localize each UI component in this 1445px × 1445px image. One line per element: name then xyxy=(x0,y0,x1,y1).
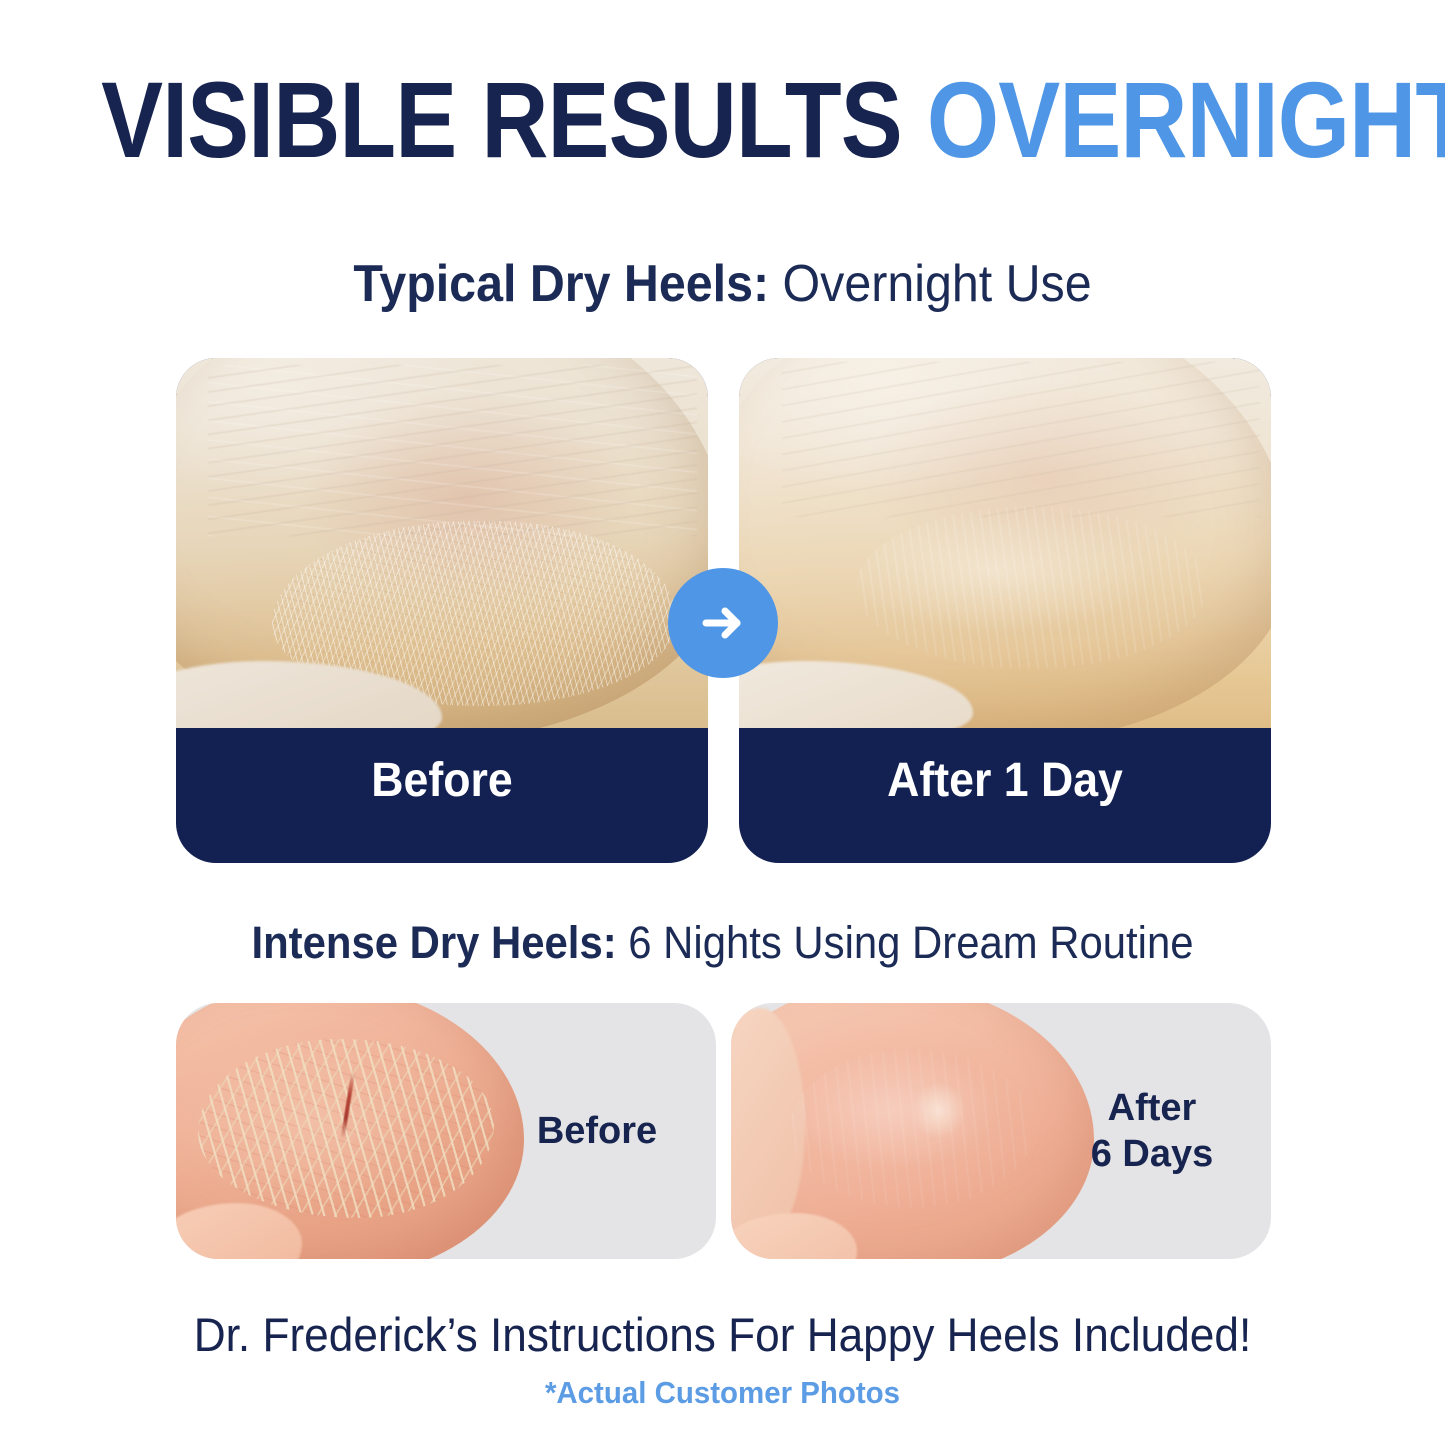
photo-typical-after xyxy=(739,358,1271,728)
panel-label-typical-after: After 1 Day xyxy=(758,753,1253,809)
section-heading-typical-bold: Typical Dry Heels: xyxy=(353,255,769,313)
panel-intense-after: After 6 Days xyxy=(731,1003,1271,1259)
section-heading-typical-regular: Overnight Use xyxy=(769,255,1092,313)
photo-typical-before xyxy=(176,358,708,728)
photo-intense-after xyxy=(731,1003,1101,1259)
photo-intense-before xyxy=(176,1003,546,1259)
panel-label-intense-before: Before xyxy=(502,1108,692,1154)
footer-instructions-text: Dr. Frederick’s Instructions For Happy H… xyxy=(43,1307,1401,1363)
headline-part-accent: OVERNIGHT xyxy=(927,59,1445,180)
page-title: VISIBLE RESULTS OVERNIGHT xyxy=(101,64,1344,176)
panel-typical-before: Before xyxy=(176,358,708,863)
panel-label-intense-after: After 6 Days xyxy=(1057,1085,1247,1177)
panel-label-typical-before: Before xyxy=(195,753,690,809)
section-heading-intense-regular: 6 Nights Using Dream Routine xyxy=(617,917,1194,968)
footer-disclaimer-text: *Actual Customer Photos xyxy=(36,1374,1409,1412)
panel-label-intense-after-line1: After xyxy=(1057,1085,1247,1131)
panel-typical-after: After 1 Day xyxy=(739,358,1271,863)
panel-intense-before: Before xyxy=(176,1003,716,1259)
section-heading-intense-bold: Intense Dry Heels: xyxy=(251,917,616,968)
section-heading-typical: Typical Dry Heels: Overnight Use xyxy=(51,253,1395,315)
section-heading-intense: Intense Dry Heels: 6 Nights Using Dream … xyxy=(51,916,1395,970)
comparison-row-intense: Before After 6 Days xyxy=(176,1003,1271,1259)
arrow-right-icon xyxy=(668,568,778,678)
headline-part-primary: VISIBLE RESULTS xyxy=(101,59,902,180)
panel-label-intense-after-line2: 6 Days xyxy=(1057,1131,1247,1177)
